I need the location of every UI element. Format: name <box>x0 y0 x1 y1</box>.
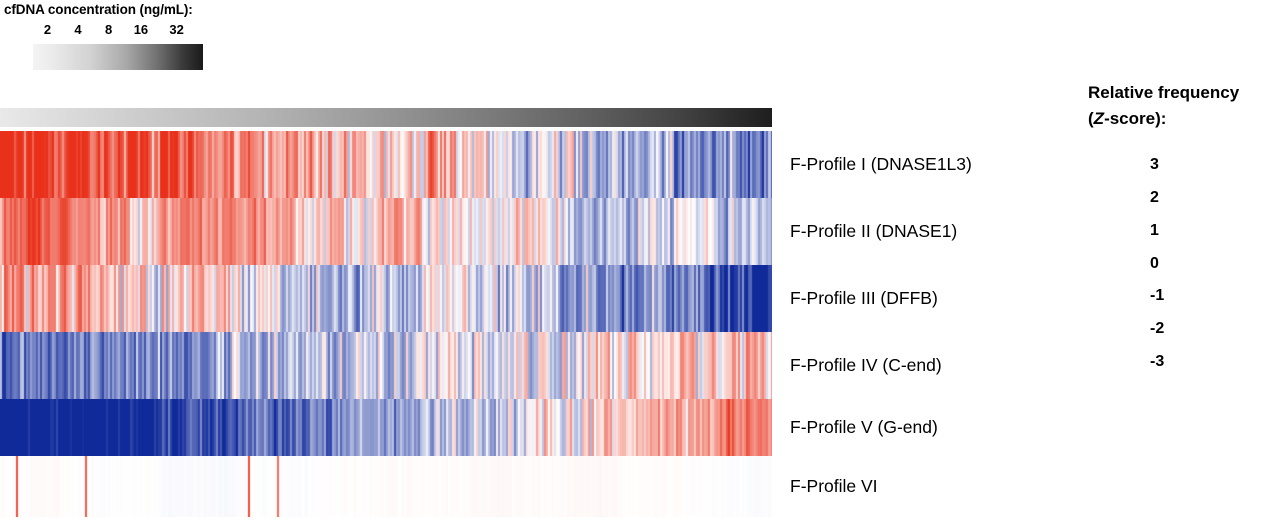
row-label-III: F-Profile III (DFFB) <box>790 290 938 308</box>
row-label-I: F-Profile I (DNASE1L3) <box>790 156 972 174</box>
heatmap-row-canvas-IV <box>0 332 772 399</box>
row-label-IV: F-Profile IV (C-end) <box>790 357 942 375</box>
z-tick-1: 1 <box>1150 222 1159 240</box>
z-legend-title-line1: Relative frequency <box>1088 84 1239 101</box>
cfdna-tick-2: 2 <box>44 22 51 37</box>
heatmap-row-III <box>0 265 772 332</box>
heatmap-row-II <box>0 198 772 265</box>
z-score-legend: Relative frequency (Z-score): 3210-1-2-3 <box>1088 84 1280 384</box>
cfdna-legend-title: cfDNA concentration (ng/mL): <box>4 2 193 17</box>
z-tick-neg1: -1 <box>1150 287 1164 305</box>
heatmap-row-VI <box>0 456 772 517</box>
cfdna-concentration-legend: cfDNA concentration (ng/mL): 2481632 <box>0 0 320 80</box>
cfdna-legend-tick-labels: 2481632 <box>33 22 203 40</box>
cfdna-tick-4: 4 <box>74 22 81 37</box>
z-tick-neg2: -2 <box>1150 320 1164 338</box>
row-label-V: F-Profile V (G-end) <box>790 419 938 437</box>
cfdna-tick-32: 32 <box>169 22 183 37</box>
heatmap-panel <box>0 108 772 518</box>
z-tick-0: 0 <box>1150 255 1159 273</box>
heatmap-row-canvas-VI <box>0 456 772 517</box>
heatmap-row-IV <box>0 332 772 399</box>
sample-annotation-bar <box>0 108 772 127</box>
z-tick-neg3: -3 <box>1150 353 1164 371</box>
heatmap-row-V <box>0 399 772 456</box>
z-legend-title-line2: (Z-score): <box>1088 110 1166 127</box>
cfdna-tick-16: 16 <box>134 22 148 37</box>
heatmap-row-I <box>0 131 772 198</box>
heatmap-row-canvas-I <box>0 131 772 198</box>
heatmap-row-canvas-II <box>0 198 772 265</box>
z-tick-2: 2 <box>1150 189 1159 207</box>
row-label-II: F-Profile II (DNASE1) <box>790 223 957 241</box>
heatmap-row-canvas-V <box>0 399 772 456</box>
cfdna-tick-8: 8 <box>105 22 112 37</box>
row-label-VI: F-Profile VI <box>790 478 878 496</box>
figure-canvas: cfDNA concentration (ng/mL): 2481632 F-P… <box>0 0 1280 527</box>
z-score-colorbar <box>1118 152 1142 375</box>
heatmap-row-canvas-III <box>0 265 772 332</box>
cfdna-legend-gradient-bar <box>33 44 203 70</box>
z-score-italic-z: Z <box>1094 109 1104 128</box>
z-tick-3: 3 <box>1150 156 1159 174</box>
heatmap-row-labels: F-Profile I (DNASE1L3)F-Profile II (DNAS… <box>790 108 1080 518</box>
